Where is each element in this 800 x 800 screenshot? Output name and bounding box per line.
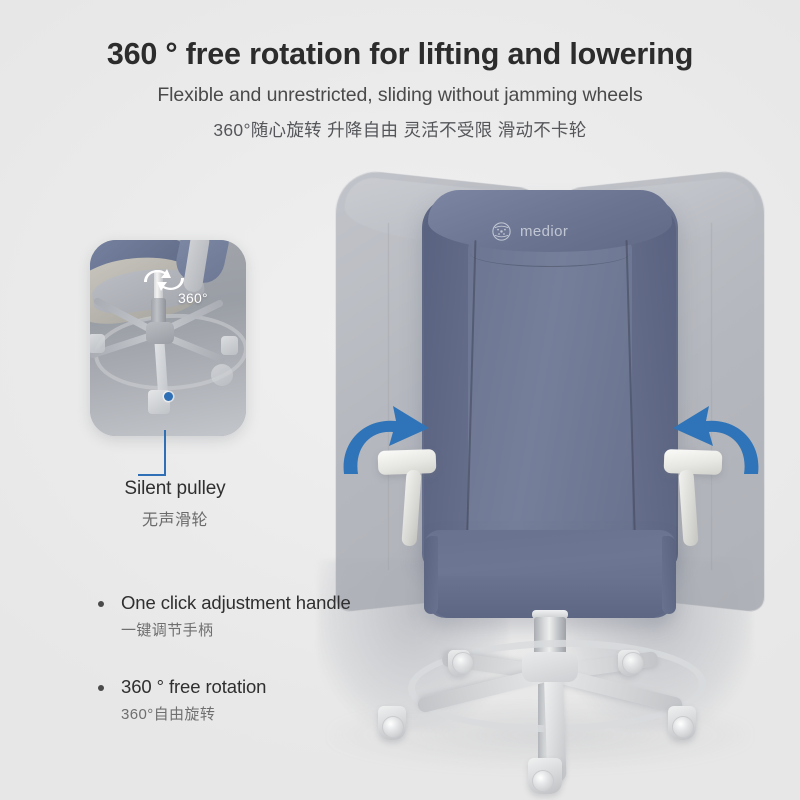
caster-wheel: [672, 716, 694, 738]
callout-leader-line-horizontal: [138, 474, 166, 476]
caption-english: Silent pulley: [60, 478, 290, 500]
inset-caster-right: [221, 336, 238, 355]
caption-chinese: 无声滑轮: [60, 506, 290, 530]
inset-rotation-label: 360°: [178, 290, 208, 306]
medior-emblem-icon: [490, 220, 513, 243]
caster-front: [528, 758, 562, 794]
inset-caster-rear: [211, 364, 233, 386]
caster-wheel: [532, 770, 554, 792]
feature-label-english: One click adjustment handle: [121, 592, 385, 614]
feature-label-english: 360 ° free rotation: [121, 676, 385, 698]
caster-rear-right: [618, 650, 640, 676]
chair-seat-edge-right: [662, 536, 676, 614]
feature-list: One click adjustment handle 一键调节手柄 360 °…: [95, 592, 385, 760]
caster-right: [668, 706, 696, 740]
ghost-seam-right: [711, 223, 712, 570]
brand-name: medior: [520, 223, 568, 240]
brand-badge: medior: [490, 220, 568, 243]
caster-wheel: [622, 652, 644, 674]
subtitle-english: Flexible and unrestricted, sliding witho…: [0, 84, 800, 107]
rotation-arrow-left-icon: [330, 398, 434, 493]
silent-pulley-caption: Silent pulley 无声滑轮: [60, 478, 290, 530]
detail-inset-card[interactable]: 360°: [90, 240, 246, 436]
feature-label-chinese: 360°自由旋转: [121, 703, 385, 724]
callout-leader-line: [164, 430, 166, 476]
detail-inset-photo: 360°: [90, 240, 246, 436]
chair-seat-edge-left: [424, 536, 438, 614]
caster-wheel: [382, 716, 404, 738]
inset-callout-marker[interactable]: [164, 392, 173, 401]
feature-item-one-click-handle: One click adjustment handle 一键调节手柄: [95, 592, 385, 640]
product-infographic: 360 ° free rotation for lifting and lowe…: [0, 0, 800, 800]
rotation-arrow-right-icon: [668, 398, 772, 493]
chair-backrest-wing-right: [630, 204, 676, 560]
base-hub: [522, 652, 578, 682]
ghost-seam-left: [388, 223, 389, 570]
caster-rear-left: [448, 650, 470, 676]
page-title: 360 ° free rotation for lifting and lowe…: [0, 38, 800, 72]
inset-caster-left: [90, 334, 105, 353]
feature-label-chinese: 一键调节手柄: [121, 619, 385, 640]
chair-backrest-wing-left: [424, 204, 470, 560]
caster-wheel: [452, 652, 474, 674]
feature-item-360-rotation: 360 ° free rotation 360°自由旋转: [95, 676, 385, 724]
inset-base-hub: [146, 322, 174, 344]
header-block: 360 ° free rotation for lifting and lowe…: [0, 38, 800, 142]
backrest-top-seam: [470, 240, 630, 267]
bullet-dot-icon: [98, 601, 104, 607]
chair-backrest-panel: [468, 232, 632, 558]
subtitle-chinese: 360°随心旋转 升降自由 灵活不受限 滑动不卡轮: [0, 117, 800, 142]
bullet-dot-icon: [98, 685, 104, 691]
